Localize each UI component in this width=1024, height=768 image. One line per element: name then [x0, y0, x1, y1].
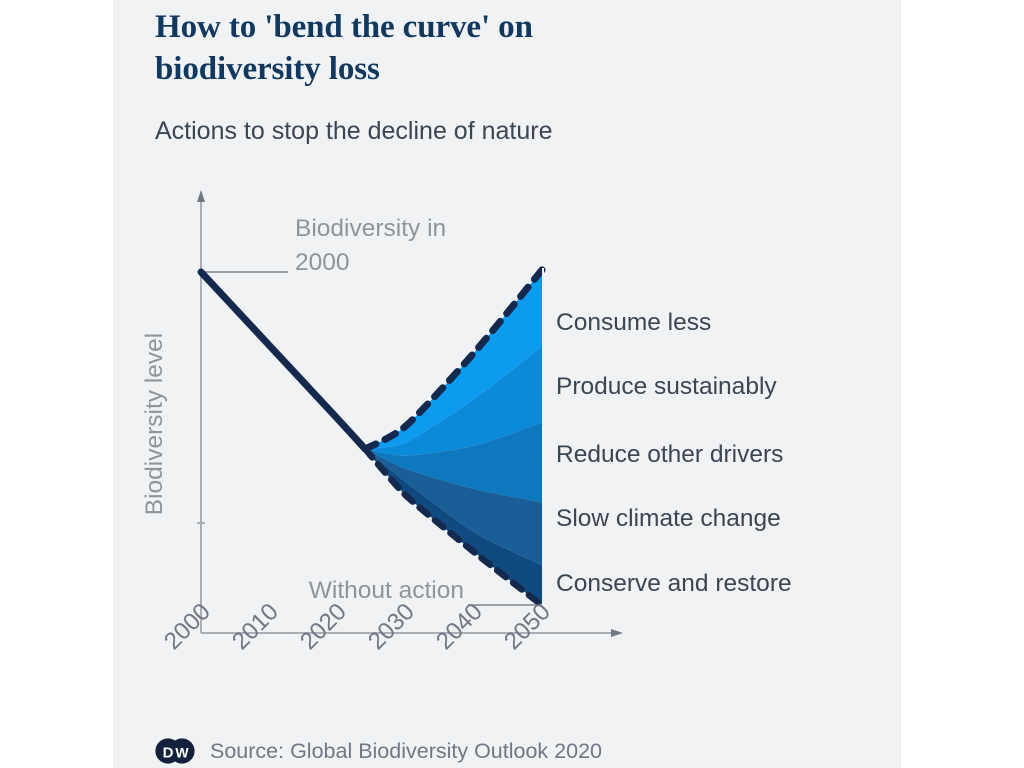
x-axis-arrow-icon [611, 629, 623, 637]
chart-container: Biodiversity level Biodiversity in 2000 … [113, 0, 901, 768]
band-label-produce-sustainably: Produce sustainably [556, 374, 777, 400]
band-label-slow-climate-change: Slow climate change [556, 506, 781, 532]
svg-text:W: W [175, 745, 189, 761]
band-label-conserve-and-restore: Conserve and restore [556, 571, 792, 597]
annotation-biodiversity-2000: Biodiversity in 2000 [295, 212, 525, 280]
band-label-consume-less: Consume less [556, 310, 711, 336]
annotation-without-action: Without action [254, 574, 464, 608]
historic-decline-curve [201, 272, 365, 449]
infographic-card: How to 'bend the curve' on biodiversity … [113, 0, 901, 768]
infographic-page: How to 'bend the curve' on biodiversity … [0, 0, 1024, 768]
band-label-reduce-other-drivers: Reduce other drivers [556, 442, 783, 468]
y-axis-arrow-icon [197, 190, 205, 202]
bend-the-curve-area-chart [113, 0, 901, 768]
y-axis-label: Biodiversity level [141, 329, 169, 519]
source-note: Source: Global Biodiversity Outlook 2020 [210, 739, 602, 764]
dw-logo: D W [155, 736, 195, 766]
svg-text:D: D [163, 745, 174, 762]
footer: D W Source: Global Biodiversity Outlook … [155, 736, 602, 766]
